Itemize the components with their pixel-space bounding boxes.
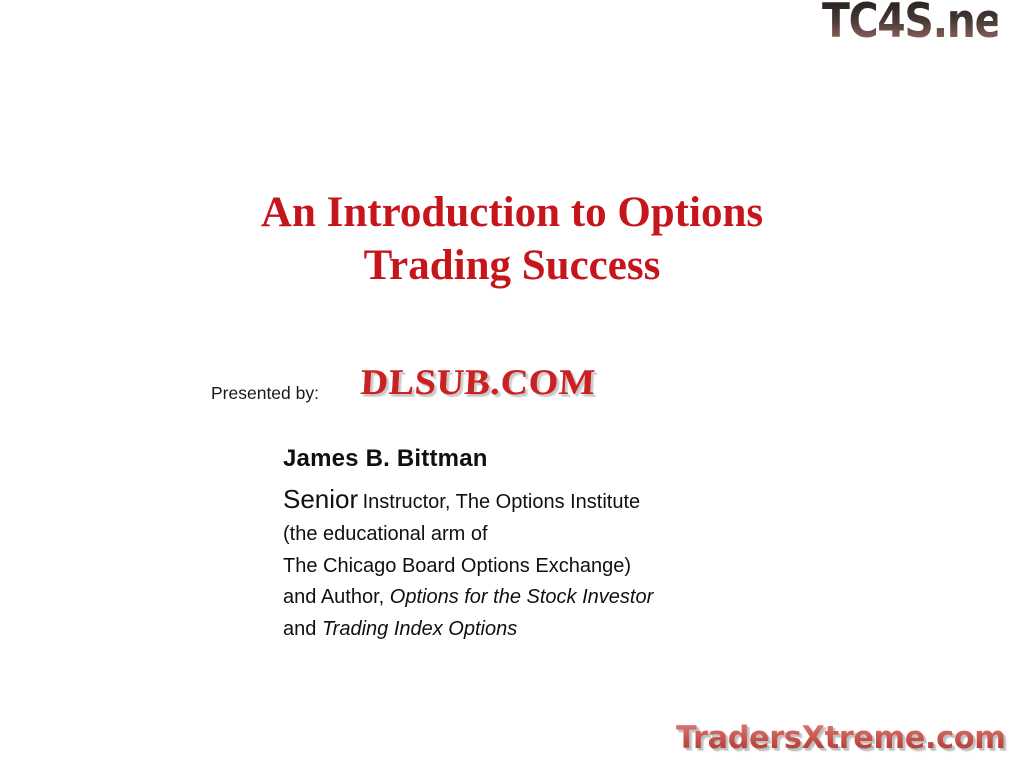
presenter-role-emphasis: Senior <box>283 484 358 514</box>
presenter-name: James B. Bittman <box>283 443 843 475</box>
presenter-info-block: James B. Bittman Senior Instructor, The … <box>283 443 843 645</box>
presenter-affiliation-line-1: (the educational arm of <box>283 519 843 551</box>
presenter-author-line-2: and Trading Index Options <box>283 614 843 646</box>
and-label: and <box>283 618 316 640</box>
book-title-2: Trading Index Options <box>322 618 517 640</box>
presenter-author-line-1: and Author, Options for the Stock Invest… <box>283 582 843 614</box>
tradersxtreme-watermark-text: TradersXtreme.com <box>676 716 1005 760</box>
presentation-slide: TC4S.net An Introduction to Options Trad… <box>0 0 1024 768</box>
tc4s-watermark-logo: TC4S.net <box>822 0 1024 53</box>
tc4s-watermark-text: TC4S.net <box>822 0 998 53</box>
presented-by-label: Presented by: <box>211 382 319 404</box>
slide-title-line-1: An Introduction to Options <box>112 186 912 239</box>
presenter-role: Senior Instructor, The Options Institute <box>283 484 843 519</box>
dlsub-watermark-text: DLSUB.COM <box>359 358 596 406</box>
presenter-affiliation-line-2: The Chicago Board Options Exchange) <box>283 551 843 583</box>
slide-title: An Introduction to Options Trading Succe… <box>112 186 912 292</box>
dlsub-watermark-logo: DLSUB.COM DLSUB.COM <box>362 358 664 408</box>
author-prefix: and Author, <box>283 586 384 608</box>
book-title-1: Options for the Stock Investor <box>390 586 653 608</box>
slide-title-line-2: Trading Success <box>112 239 912 292</box>
tradersxtreme-watermark-logo: TradersXtreme.com TradersXtreme.com <box>676 716 1024 764</box>
presenter-role-rest: Instructor, The Options Institute <box>363 491 641 513</box>
